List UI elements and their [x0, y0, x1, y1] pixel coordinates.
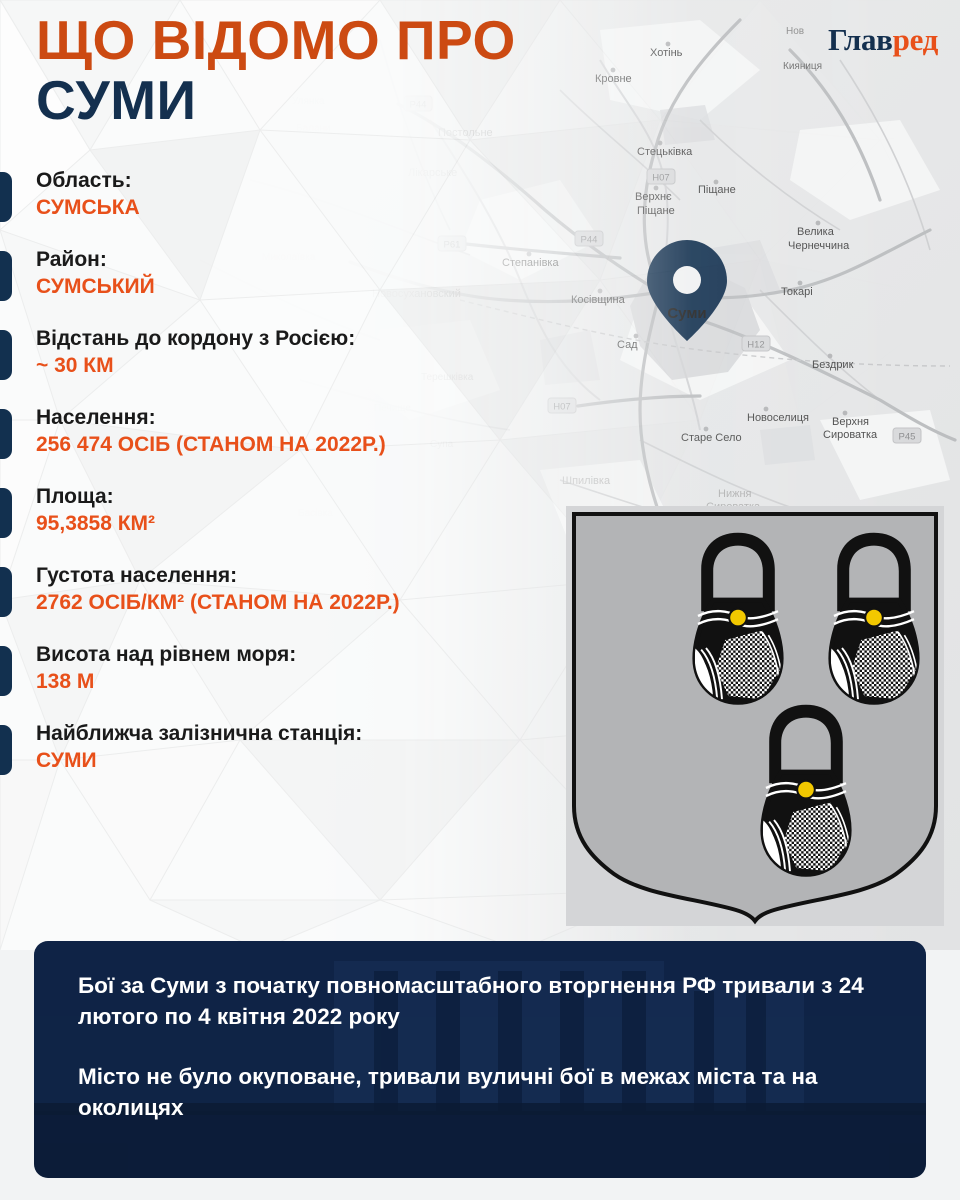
fact-value: 138 М [36, 669, 560, 695]
fact-bullet-marker [0, 725, 12, 775]
brand-logo-part2: ред [893, 22, 938, 57]
fact-label: Населення: [36, 405, 560, 431]
map-road-shield: Н12 [742, 336, 770, 351]
map-place-label: Верхнє [635, 191, 672, 203]
fact-value: 95,3858 КМ² [36, 511, 560, 537]
fact-label: Район: [36, 247, 560, 273]
fact-row: Густота населення:2762 ОСІБ/КМ² (СТАНОМ … [0, 563, 560, 621]
facts-list: Область:СУМСЬКАРайон:СУМСЬКИЙВідстань до… [0, 168, 560, 800]
coat-of-arms [566, 506, 944, 926]
page-title-line1: ЩО ВІДОМО ПРО [36, 14, 626, 68]
road-shield-label: Р45 [899, 432, 916, 443]
map-place-label: Бездрик [812, 359, 854, 371]
fact-row: Висота над рівнем моря:138 М [0, 642, 560, 700]
map-place-label: Постольне [438, 127, 493, 139]
map-place-label: Стецьківка [637, 146, 693, 158]
fact-bullet-marker [0, 172, 12, 222]
fact-bullet-marker [0, 330, 12, 380]
map-place-label: Шпилівка [562, 475, 611, 487]
map-place-label: Піщане [637, 205, 675, 217]
map-place-label: Сироватка [823, 429, 878, 441]
fact-row: Площа:95,3858 КМ² [0, 484, 560, 542]
fact-row: Найближча залізнична станція:СУМИ [0, 721, 560, 779]
fact-bullet-marker [0, 646, 12, 696]
fact-label: Відстань до кордону з Росією: [36, 326, 560, 352]
fact-bullet-marker [0, 251, 12, 301]
map-place-label: Косівщина [571, 294, 626, 306]
brand-logo[interactable]: Главред [828, 22, 938, 58]
map-place-label: Чернеччина [788, 240, 850, 252]
map-place-label: Піщане [698, 184, 736, 196]
fact-bullet-marker [0, 567, 12, 617]
fact-value: СУМСЬКИЙ [36, 274, 560, 300]
page-title-line2: СУМИ [36, 74, 626, 128]
map-place-label: Новоселиця [747, 412, 809, 424]
note-panel: Бої за Суми з початку повномасштабного в… [34, 941, 926, 1178]
map-place-label: Старе Село [681, 432, 742, 444]
fact-label: Густота населення: [36, 563, 560, 589]
map-place-label: Нов [786, 26, 804, 37]
fact-row: Район:СУМСЬКИЙ [0, 247, 560, 305]
map-place-label: Верхня [832, 416, 869, 428]
fact-row: Відстань до кордону з Росією:~ 30 КМ [0, 326, 560, 384]
fact-row: Область:СУМСЬКА [0, 168, 560, 226]
fact-bullet-marker [0, 409, 12, 459]
note-paragraph-2: Місто не було окуповане, тривали вуличні… [78, 1062, 892, 1123]
map-place-label: Кияниця [783, 61, 822, 72]
fact-value: 2762 ОСІБ/КМ² (СТАНОМ НА 2022Р.) [36, 590, 560, 616]
map-road-shield: Р45 [893, 428, 921, 443]
fact-row: Населення:256 474 ОСІБ (СТАНОМ НА 2022Р.… [0, 405, 560, 463]
fact-value: ~ 30 КМ [36, 353, 560, 379]
fact-label: Область: [36, 168, 560, 194]
page-title: ЩО ВІДОМО ПРО СУМИ [36, 14, 626, 128]
fact-value: СУМСЬКА [36, 195, 560, 221]
road-shield-label: Н12 [747, 340, 764, 351]
road-shield-label: Р44 [581, 235, 598, 246]
infographic-root: ХотіньНовКияницяКровнеУлянкаПостольнеБал… [0, 0, 960, 1200]
map-pin-label: Суми [667, 305, 706, 322]
fact-label: Висота над рівнем моря: [36, 642, 560, 668]
road-shield-label: Н07 [652, 173, 669, 184]
map-place-label: Токарі [781, 286, 813, 298]
coat-of-arms-svg [566, 506, 944, 926]
fact-value: СУМИ [36, 748, 560, 774]
note-paragraph-1: Бої за Суми з початку повномасштабного в… [78, 971, 892, 1032]
fact-label: Найближча залізнична станція: [36, 721, 560, 747]
brand-logo-part1: Глав [828, 22, 893, 57]
map-place-label: Нижня [718, 488, 752, 500]
shield-field [566, 506, 944, 926]
fact-value: 256 474 ОСІБ (СТАНОМ НА 2022Р.) [36, 432, 560, 458]
fact-bullet-marker [0, 488, 12, 538]
map-place-label: Сад [617, 339, 638, 351]
map-place-label: Велика [797, 226, 835, 238]
note-text: Бої за Суми з початку повномасштабного в… [78, 971, 892, 1123]
fact-label: Площа: [36, 484, 560, 510]
map-road-shield: Р44 [575, 231, 603, 246]
map-place-label: Хотінь [650, 47, 683, 59]
map-road-shield: Н07 [647, 169, 675, 184]
